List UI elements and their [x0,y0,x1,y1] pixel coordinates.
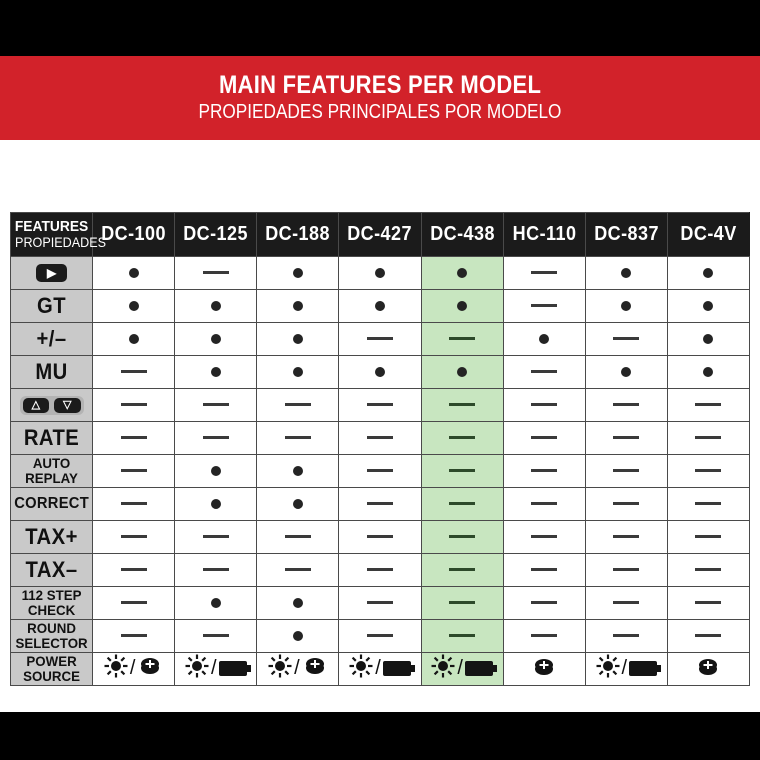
feature-label-cell: TAX– [11,554,93,587]
feature-value-cell [93,422,175,455]
feature-value-cell [339,521,421,554]
feature-value-cell [339,389,421,422]
table-sheet: FEATURES PROPIEDADES DC-100 DC-125 DC-18… [0,140,760,712]
unavailable-dash-icon [367,403,393,406]
power-source-solar-coin: / [104,655,164,681]
unavailable-dash-icon [613,568,639,571]
feature-label-line2: REPLAY [13,471,90,486]
unavailable-dash-icon [121,634,147,637]
solar-cell-icon [431,654,455,683]
feature-value-cell [667,455,749,488]
unavailable-dash-icon [285,568,311,571]
table-row: ROUNDSELECTOR [11,620,750,653]
feature-value-cell [421,389,503,422]
unavailable-dash-icon [695,469,721,472]
available-dot-icon [211,301,221,311]
feature-value-cell [421,257,503,290]
column-header-label: DC-438 [426,223,499,246]
available-dot-icon [293,466,303,476]
feature-value-cell [667,389,749,422]
table-row: 112 STEPCHECK [11,587,750,620]
unavailable-dash-icon [121,370,147,373]
unavailable-dash-icon [203,271,229,274]
feature-value-cell [585,554,667,587]
unavailable-dash-icon [531,634,557,637]
feature-value-cell [585,620,667,653]
feature-label: +/– [14,328,89,350]
column-header-dc-188: DC-188 [257,213,339,257]
available-dot-icon [703,301,713,311]
feature-value-cell [257,587,339,620]
unavailable-dash-icon [531,469,557,472]
feature-value-cell [421,290,503,323]
features-comparison-table: FEATURES PROPIEDADES DC-100 DC-125 DC-18… [10,212,750,686]
unavailable-dash-icon [449,337,475,340]
feature-value-cell [93,356,175,389]
feature-value-cell [339,356,421,389]
available-dot-icon [621,301,631,311]
feature-value-cell [93,587,175,620]
available-dot-icon [129,334,139,344]
feature-value-cell [257,455,339,488]
feature-value-cell [93,554,175,587]
table-row: POWERSOURCE////// [11,653,750,686]
feature-value-cell [667,323,749,356]
unavailable-dash-icon [449,469,475,472]
feature-value-cell [175,488,257,521]
feature-value-cell [667,554,749,587]
feature-value-cell [585,356,667,389]
column-header-dc-125: DC-125 [175,213,257,257]
table-row: TAX– [11,554,750,587]
unavailable-dash-icon [695,568,721,571]
feature-value-cell [175,455,257,488]
feature-value-cell [421,356,503,389]
available-dot-icon [457,367,467,377]
unavailable-dash-icon [203,535,229,538]
unavailable-dash-icon [203,436,229,439]
power-source-solar-battery: / [185,655,247,681]
unavailable-dash-icon [367,568,393,571]
feature-value-cell [503,620,585,653]
available-dot-icon [293,598,303,608]
unavailable-dash-icon [613,634,639,637]
feature-value-cell [503,323,585,356]
table-header-row: FEATURES PROPIEDADES DC-100 DC-125 DC-18… [11,213,750,257]
feature-label-cell: △▽ [11,389,93,422]
unavailable-dash-icon [613,601,639,604]
table-header: FEATURES PROPIEDADES DC-100 DC-125 DC-18… [11,213,750,257]
available-dot-icon [129,268,139,278]
solar-cell-icon [268,654,292,683]
feature-value-cell [175,389,257,422]
feature-value-cell [503,356,585,389]
feature-value-cell [667,521,749,554]
available-dot-icon [293,631,303,641]
unavailable-dash-icon [121,469,147,472]
unavailable-dash-icon [367,469,393,472]
feature-value-cell [503,389,585,422]
feature-value-cell [503,554,585,587]
feature-value-cell [667,356,749,389]
unavailable-dash-icon [531,370,557,373]
unavailable-dash-icon [531,271,557,274]
separator-slash: / [457,658,463,678]
unavailable-dash-icon [531,535,557,538]
feature-value-cell [175,323,257,356]
unavailable-dash-icon [449,568,475,571]
solar-cell-icon [104,654,128,683]
available-dot-icon [539,334,549,344]
unavailable-dash-icon [285,436,311,439]
battery-icon [383,661,411,676]
available-dot-icon [211,367,221,377]
table-row: GT [11,290,750,323]
available-dot-icon [375,301,385,311]
feature-value-cell [93,257,175,290]
arrow-down-icon: ▽ [54,398,80,413]
table-row: AUTOREPLAY [11,455,750,488]
feature-value-cell [667,422,749,455]
corner-header-en: FEATURES [14,219,89,235]
feature-value-cell [257,356,339,389]
feature-value-cell [257,620,339,653]
feature-label-line1: 112 STEP [13,588,90,603]
feature-value-cell [421,455,503,488]
column-header-label: DC-100 [97,223,170,246]
unavailable-dash-icon [531,568,557,571]
feature-label: CORRECT [14,496,89,512]
feature-value-cell [503,587,585,620]
feature-value-cell [667,257,749,290]
unavailable-dash-icon [449,634,475,637]
column-header-label: HC-110 [508,223,581,246]
available-dot-icon [703,268,713,278]
feature-value-cell [175,356,257,389]
unavailable-dash-icon [695,436,721,439]
feature-value-cell [667,653,749,686]
feature-value-cell [257,488,339,521]
feature-label-cell: RATE [11,422,93,455]
feature-label: GT [14,295,89,317]
unavailable-dash-icon [613,337,639,340]
feature-label-line2: SOURCE [13,669,90,684]
feature-label-cell: ROUNDSELECTOR [11,620,93,653]
feature-label-cell: TAX+ [11,521,93,554]
title-banner: MAIN FEATURES PER MODEL PROPIEDADES PRIN… [0,56,760,140]
feature-value-cell [503,521,585,554]
coin-battery-icon [531,657,557,682]
unavailable-dash-icon [367,502,393,505]
feature-value-cell [503,257,585,290]
banner-title: MAIN FEATURES PER MODEL [219,72,541,98]
unavailable-dash-icon [121,403,147,406]
play-button-icon: ▶ [36,264,67,282]
unavailable-dash-icon [449,436,475,439]
feature-value-cell [257,323,339,356]
available-dot-icon [375,268,385,278]
unavailable-dash-icon [449,502,475,505]
feature-value-cell [503,290,585,323]
column-header-hc-110: HC-110 [503,213,585,257]
available-dot-icon [211,466,221,476]
feature-value-cell [503,488,585,521]
unavailable-dash-icon [695,502,721,505]
battery-icon [465,661,493,676]
coin-battery-icon [302,656,328,681]
feature-value-cell [93,290,175,323]
available-dot-icon [457,268,467,278]
available-dot-icon [211,334,221,344]
feature-value-cell [257,554,339,587]
feature-value-cell [93,521,175,554]
column-header-dc-4v: DC-4V [667,213,749,257]
available-dot-icon [129,301,139,311]
feature-label-cell: AUTOREPLAY [11,455,93,488]
feature-label: RATE [14,427,89,449]
power-source-solar-battery: / [349,655,411,681]
feature-label-cell: GT [11,290,93,323]
unavailable-dash-icon [121,568,147,571]
column-header-dc-100: DC-100 [93,213,175,257]
feature-label: TAX– [14,559,89,581]
unavailable-dash-icon [449,601,475,604]
column-header-label: DC-4V [672,223,745,246]
arrow-up-icon: △ [23,398,49,413]
power-source-solar-battery: / [431,655,493,681]
feature-value-cell: / [339,653,421,686]
unavailable-dash-icon [695,634,721,637]
column-header-label: DC-125 [179,223,252,246]
feature-value-cell [339,488,421,521]
feature-value-cell: / [421,653,503,686]
feature-value-cell [93,455,175,488]
table-row: TAX+ [11,521,750,554]
feature-label-line2: SELECTOR [13,636,90,651]
available-dot-icon [211,499,221,509]
unavailable-dash-icon [531,403,557,406]
battery-icon [629,661,657,676]
unavailable-dash-icon [531,304,557,307]
feature-value-cell: / [93,653,175,686]
page-root: MAIN FEATURES PER MODEL PROPIEDADES PRIN… [0,0,760,760]
feature-value-cell [93,323,175,356]
feature-value-cell [585,521,667,554]
separator-slash: / [375,658,381,678]
unavailable-dash-icon [695,601,721,604]
table-row: +/– [11,323,750,356]
feature-label-cell: POWERSOURCE [11,653,93,686]
feature-value-cell [421,587,503,620]
unavailable-dash-icon [121,601,147,604]
feature-value-cell [93,389,175,422]
feature-label-cell: CORRECT [11,488,93,521]
feature-value-cell [421,488,503,521]
feature-value-cell [585,323,667,356]
available-dot-icon [703,367,713,377]
feature-value-cell [421,620,503,653]
feature-label-cell: ▶ [11,257,93,290]
solar-cell-icon [596,654,620,683]
column-header-label: DC-837 [590,223,663,246]
unavailable-dash-icon [531,502,557,505]
feature-label-line2: CHECK [13,603,90,618]
feature-value-cell [421,554,503,587]
feature-value-cell [339,290,421,323]
feature-value-cell [585,455,667,488]
feature-value-cell [421,521,503,554]
available-dot-icon [703,334,713,344]
coin-battery-icon [137,656,163,681]
power-source-solar-coin: / [268,655,328,681]
available-dot-icon [293,499,303,509]
feature-value-cell [339,323,421,356]
unavailable-dash-icon [121,436,147,439]
feature-value-cell [421,422,503,455]
feature-value-cell [667,587,749,620]
unavailable-dash-icon [203,568,229,571]
separator-slash: / [622,658,628,678]
feature-label-cell: MU [11,356,93,389]
unavailable-dash-icon [613,535,639,538]
separator-slash: / [130,658,136,678]
available-dot-icon [621,367,631,377]
feature-value-cell [339,587,421,620]
feature-value-cell [257,521,339,554]
solar-cell-icon [185,654,209,683]
unavailable-dash-icon [531,436,557,439]
feature-value-cell [339,422,421,455]
feature-value-cell: / [257,653,339,686]
feature-value-cell [175,587,257,620]
feature-value-cell [175,257,257,290]
column-header-label: DC-188 [261,223,334,246]
unavailable-dash-icon [285,403,311,406]
unavailable-dash-icon [121,502,147,505]
feature-value-cell [503,455,585,488]
feature-label: TAX+ [14,526,89,548]
available-dot-icon [457,301,467,311]
feature-label-cell: 112 STEPCHECK [11,587,93,620]
feature-value-cell [175,290,257,323]
feature-value-cell [421,323,503,356]
feature-value-cell [585,587,667,620]
column-header-dc-438: DC-438 [421,213,503,257]
feature-label-line1: AUTO [13,456,90,471]
feature-value-cell: / [175,653,257,686]
feature-value-cell [667,290,749,323]
feature-value-cell [585,257,667,290]
feature-value-cell [257,389,339,422]
feature-label-line1: POWER [13,654,90,669]
available-dot-icon [293,301,303,311]
unavailable-dash-icon [449,403,475,406]
feature-value-cell [175,422,257,455]
feature-value-cell [339,455,421,488]
available-dot-icon [293,367,303,377]
feature-value-cell [257,257,339,290]
separator-slash: / [211,658,217,678]
feature-value-cell [585,422,667,455]
feature-value-cell [93,488,175,521]
coin-battery-icon [695,657,721,682]
unavailable-dash-icon [367,436,393,439]
table-row: △▽ [11,389,750,422]
unavailable-dash-icon [695,403,721,406]
battery-icon [219,661,247,676]
table-row: MU [11,356,750,389]
unavailable-dash-icon [531,601,557,604]
unavailable-dash-icon [367,535,393,538]
separator-slash: / [294,658,300,678]
column-header-label: DC-427 [343,223,416,246]
unavailable-dash-icon [367,337,393,340]
unavailable-dash-icon [613,403,639,406]
feature-value-cell [585,290,667,323]
unavailable-dash-icon [203,634,229,637]
banner-subtitle: PROPIEDADES PRINCIPALES POR MODELO [199,101,562,124]
feature-value-cell [93,620,175,653]
unavailable-dash-icon [367,634,393,637]
feature-value-cell [585,389,667,422]
power-source-coin [531,656,557,682]
up-down-arrow-buttons-icon: △▽ [20,396,84,415]
unavailable-dash-icon [613,502,639,505]
table-row: RATE [11,422,750,455]
corner-header-es: PROPIEDADES [15,235,88,250]
table-body: ▶GT+/–MU△▽RATEAUTOREPLAYCORRECTTAX+TAX–1… [11,257,750,686]
feature-value-cell [339,620,421,653]
column-header-dc-427: DC-427 [339,213,421,257]
unavailable-dash-icon [613,469,639,472]
feature-value-cell [585,488,667,521]
available-dot-icon [375,367,385,377]
corner-header-cell: FEATURES PROPIEDADES [11,213,93,257]
feature-value-cell [667,620,749,653]
feature-value-cell [667,488,749,521]
unavailable-dash-icon [613,436,639,439]
unavailable-dash-icon [203,403,229,406]
feature-label-cell: +/– [11,323,93,356]
feature-value-cell [175,620,257,653]
power-source-solar-battery: / [596,655,658,681]
power-source-coin [695,656,721,682]
feature-label-line1: ROUND [13,621,90,636]
feature-value-cell [257,290,339,323]
unavailable-dash-icon [449,535,475,538]
feature-label: MU [14,361,89,383]
available-dot-icon [211,598,221,608]
column-header-dc-837: DC-837 [585,213,667,257]
table-row: ▶ [11,257,750,290]
unavailable-dash-icon [695,535,721,538]
available-dot-icon [621,268,631,278]
unavailable-dash-icon [367,601,393,604]
available-dot-icon [293,268,303,278]
feature-value-cell [339,554,421,587]
feature-value-cell [339,257,421,290]
feature-value-cell: / [585,653,667,686]
unavailable-dash-icon [285,535,311,538]
feature-value-cell [503,422,585,455]
feature-value-cell [503,653,585,686]
available-dot-icon [293,334,303,344]
feature-value-cell [175,521,257,554]
feature-value-cell [175,554,257,587]
table-row: CORRECT [11,488,750,521]
unavailable-dash-icon [121,535,147,538]
solar-cell-icon [349,654,373,683]
